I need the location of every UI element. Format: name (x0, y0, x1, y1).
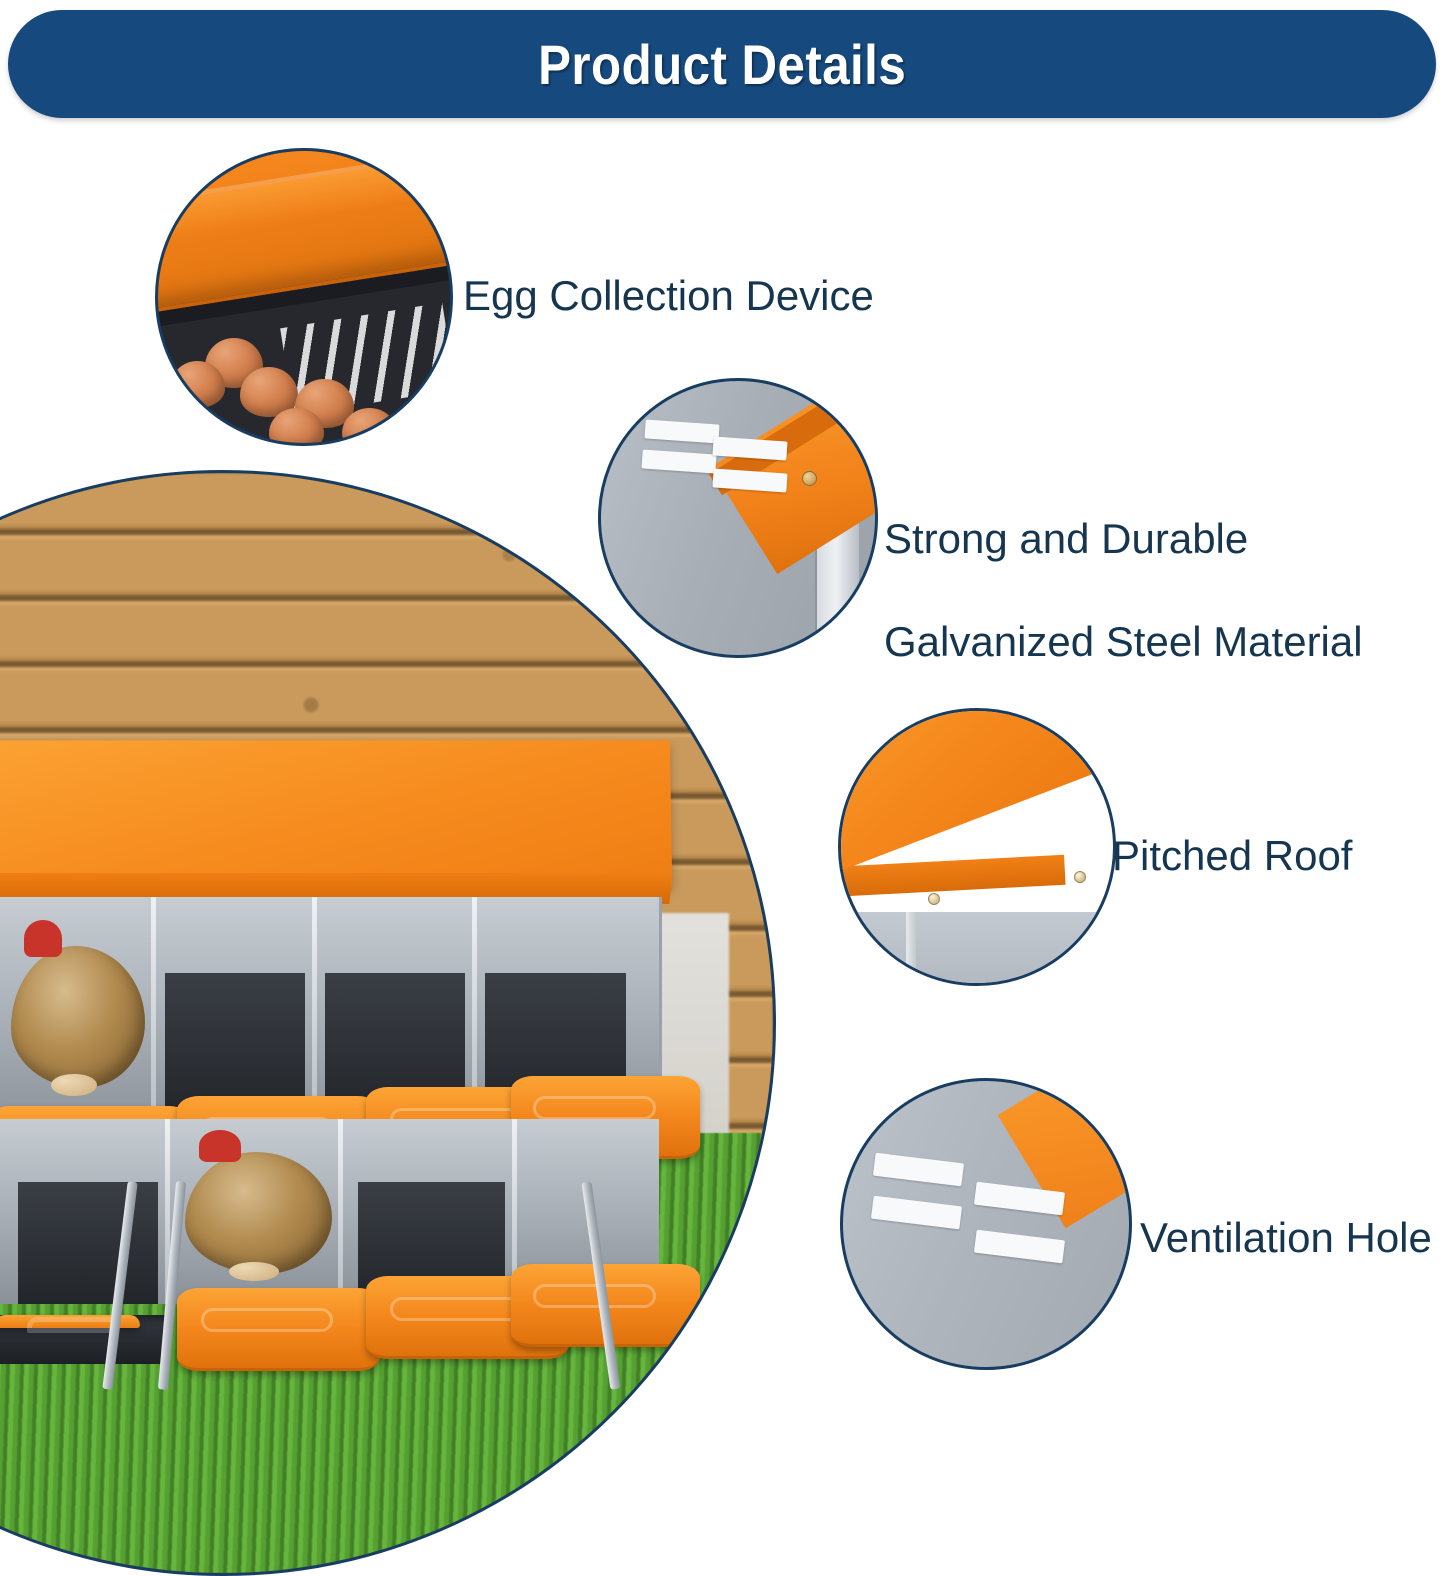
ventilation-slot (644, 420, 719, 444)
callout-label-galvanized-steel: Strong and Durable Galvanized Steel Mate… (884, 462, 1363, 718)
screw-icon (928, 893, 940, 905)
leg (158, 1180, 186, 1390)
callout-label-ventilation-hole: Ventilation Hole (1140, 1212, 1432, 1263)
callout-label-egg-collection: Egg Collection Device (463, 270, 874, 321)
callout-label-line-2: Galvanized Steel Material (884, 616, 1363, 667)
page-header-banner: Product Details (8, 10, 1436, 118)
ventilation-slot (873, 1153, 964, 1187)
page-title: Product Details (538, 32, 906, 97)
ventilation-slot (642, 450, 717, 474)
callout-label-line-1: Strong and Durable (884, 513, 1363, 564)
ventilation-slot (973, 1230, 1064, 1264)
hen-comb (199, 1130, 240, 1162)
leg (102, 1181, 137, 1390)
screw-icon (1074, 871, 1086, 883)
callout-label-pitched-roof: Pitched Roof (1112, 830, 1352, 881)
steel-body (838, 912, 1116, 986)
main-product-photo (0, 470, 776, 1576)
ventilation-slot (871, 1196, 962, 1230)
egg (170, 361, 225, 408)
hen (11, 946, 145, 1088)
hen-comb (24, 920, 61, 957)
ventilation-hole-circle (840, 1078, 1132, 1370)
egg-collection-circle (155, 148, 453, 446)
photo-scene (0, 473, 773, 1573)
pitched-roof-circle (838, 708, 1116, 986)
orange-pitched-roof (0, 740, 672, 885)
support-legs (104, 1181, 627, 1390)
leg (581, 1181, 620, 1390)
roof-front-lip (838, 855, 1065, 901)
steel-divider (906, 912, 916, 986)
nesting-box (0, 737, 685, 1353)
